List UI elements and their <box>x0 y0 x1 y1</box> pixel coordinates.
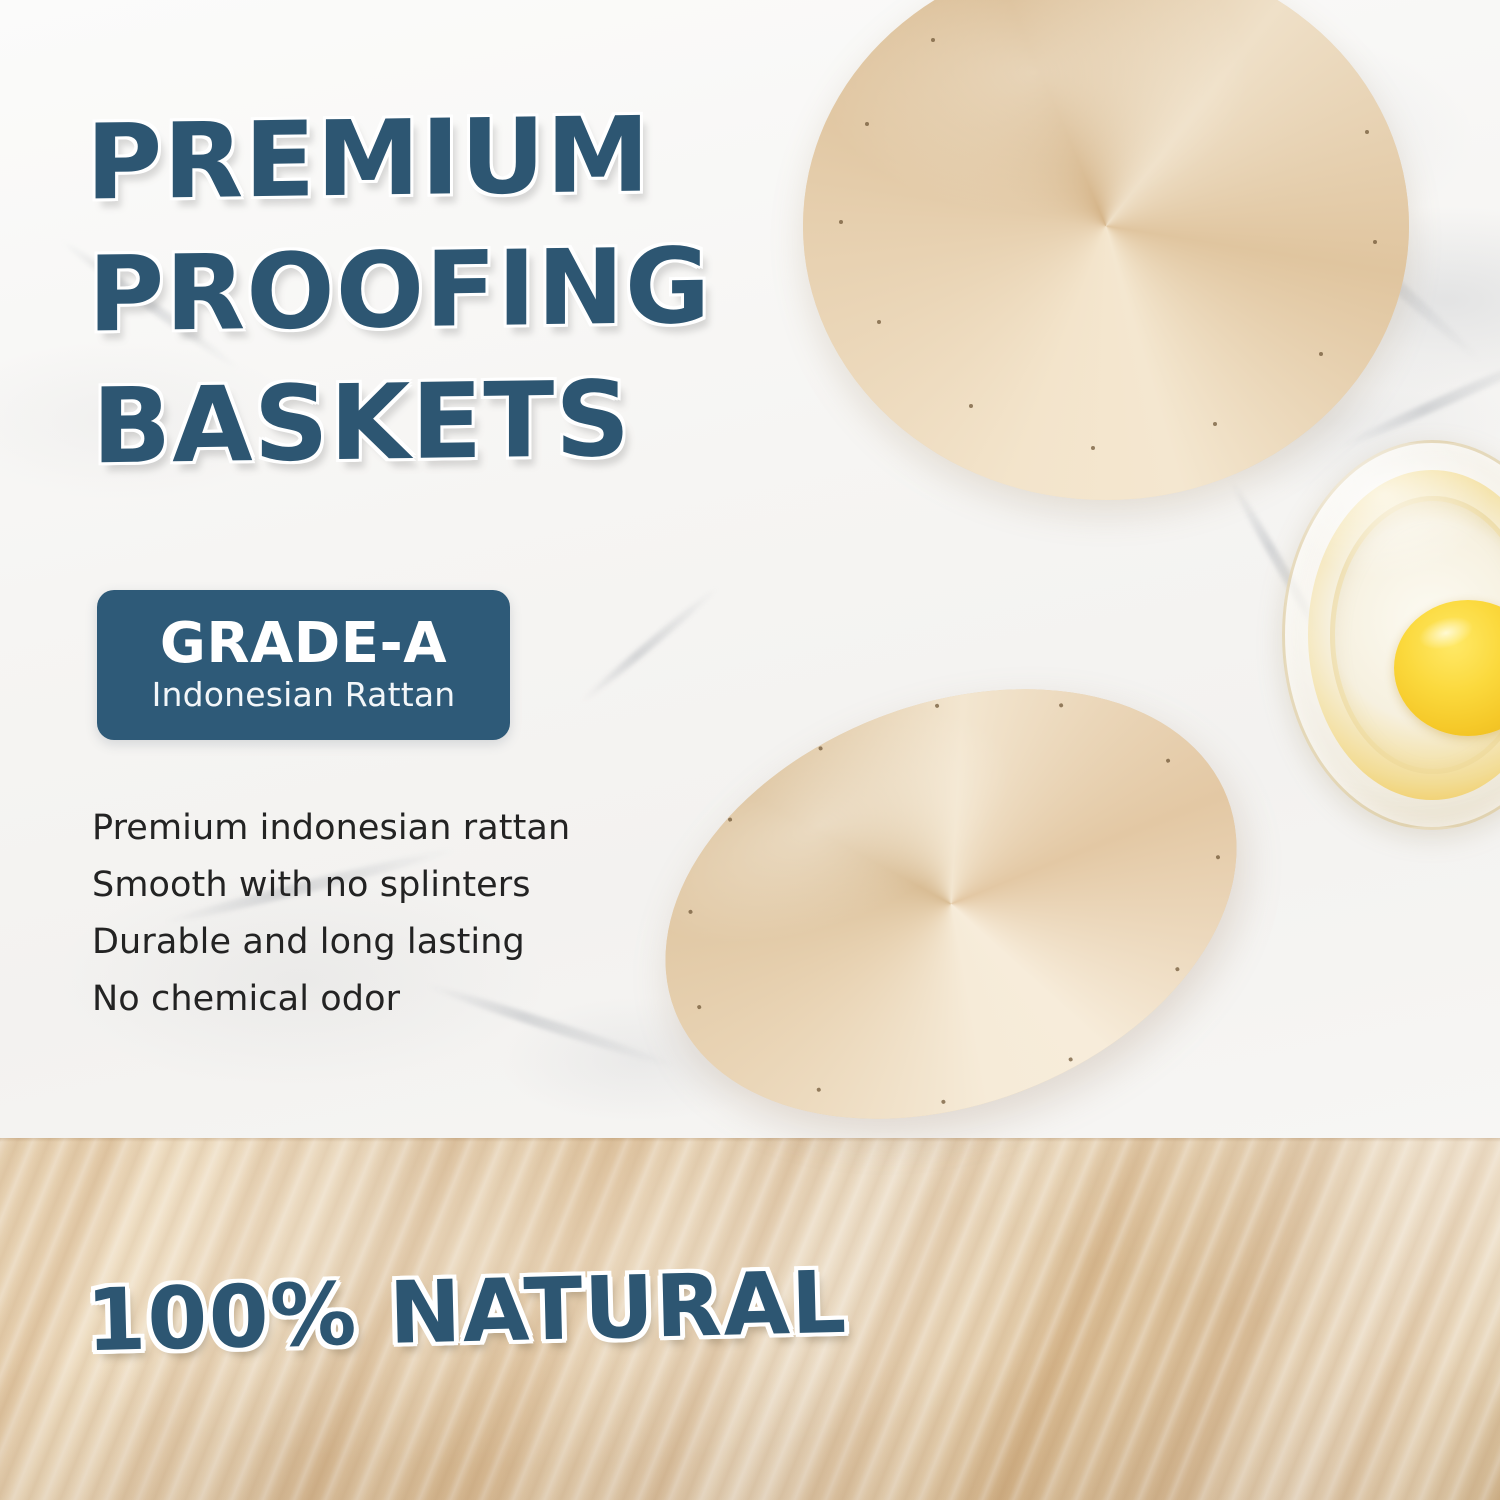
feature-item: Smooth with no splinters <box>92 857 712 914</box>
headline-line-3: Baskets <box>92 352 726 493</box>
natural-banner-text: 100% Natural <box>85 1253 849 1372</box>
grade-badge-title: GRADE-A <box>160 615 447 673</box>
rim-stitch-dot <box>969 404 973 408</box>
feature-list: Premium indonesian rattan Smooth with no… <box>92 800 712 1028</box>
round-basket-highlight <box>803 0 1409 500</box>
grade-badge-subtitle: Indonesian Rattan <box>152 676 456 715</box>
feature-item: No chemical odor <box>92 971 712 1028</box>
rim-stitch-dot <box>931 38 935 42</box>
headline-line-2: Proofing <box>88 220 726 361</box>
feature-item: Premium indonesian rattan <box>92 800 712 857</box>
product-infographic: Premium Proofing Baskets GRADE-A Indones… <box>0 0 1500 1500</box>
glass-bowl-highlight <box>1282 440 1500 830</box>
glass-bowl-with-egg-image <box>1282 440 1500 830</box>
rim-stitch-dot <box>839 220 843 224</box>
rim-stitch-dot <box>877 320 881 324</box>
rim-stitch-dot <box>1213 422 1217 426</box>
rim-stitch-dot <box>1373 240 1377 244</box>
headline-line-1: Premium <box>86 88 726 229</box>
rim-stitch-dot <box>1319 352 1323 356</box>
headline: Premium Proofing Baskets <box>86 88 726 493</box>
rim-stitch-dot <box>1365 130 1369 134</box>
grade-badge: GRADE-A Indonesian Rattan <box>97 590 510 740</box>
feature-item: Durable and long lasting <box>92 914 712 971</box>
round-proofing-basket-image <box>803 0 1409 500</box>
rim-stitch-dot <box>1091 446 1095 450</box>
rim-stitch-dot <box>865 122 869 126</box>
